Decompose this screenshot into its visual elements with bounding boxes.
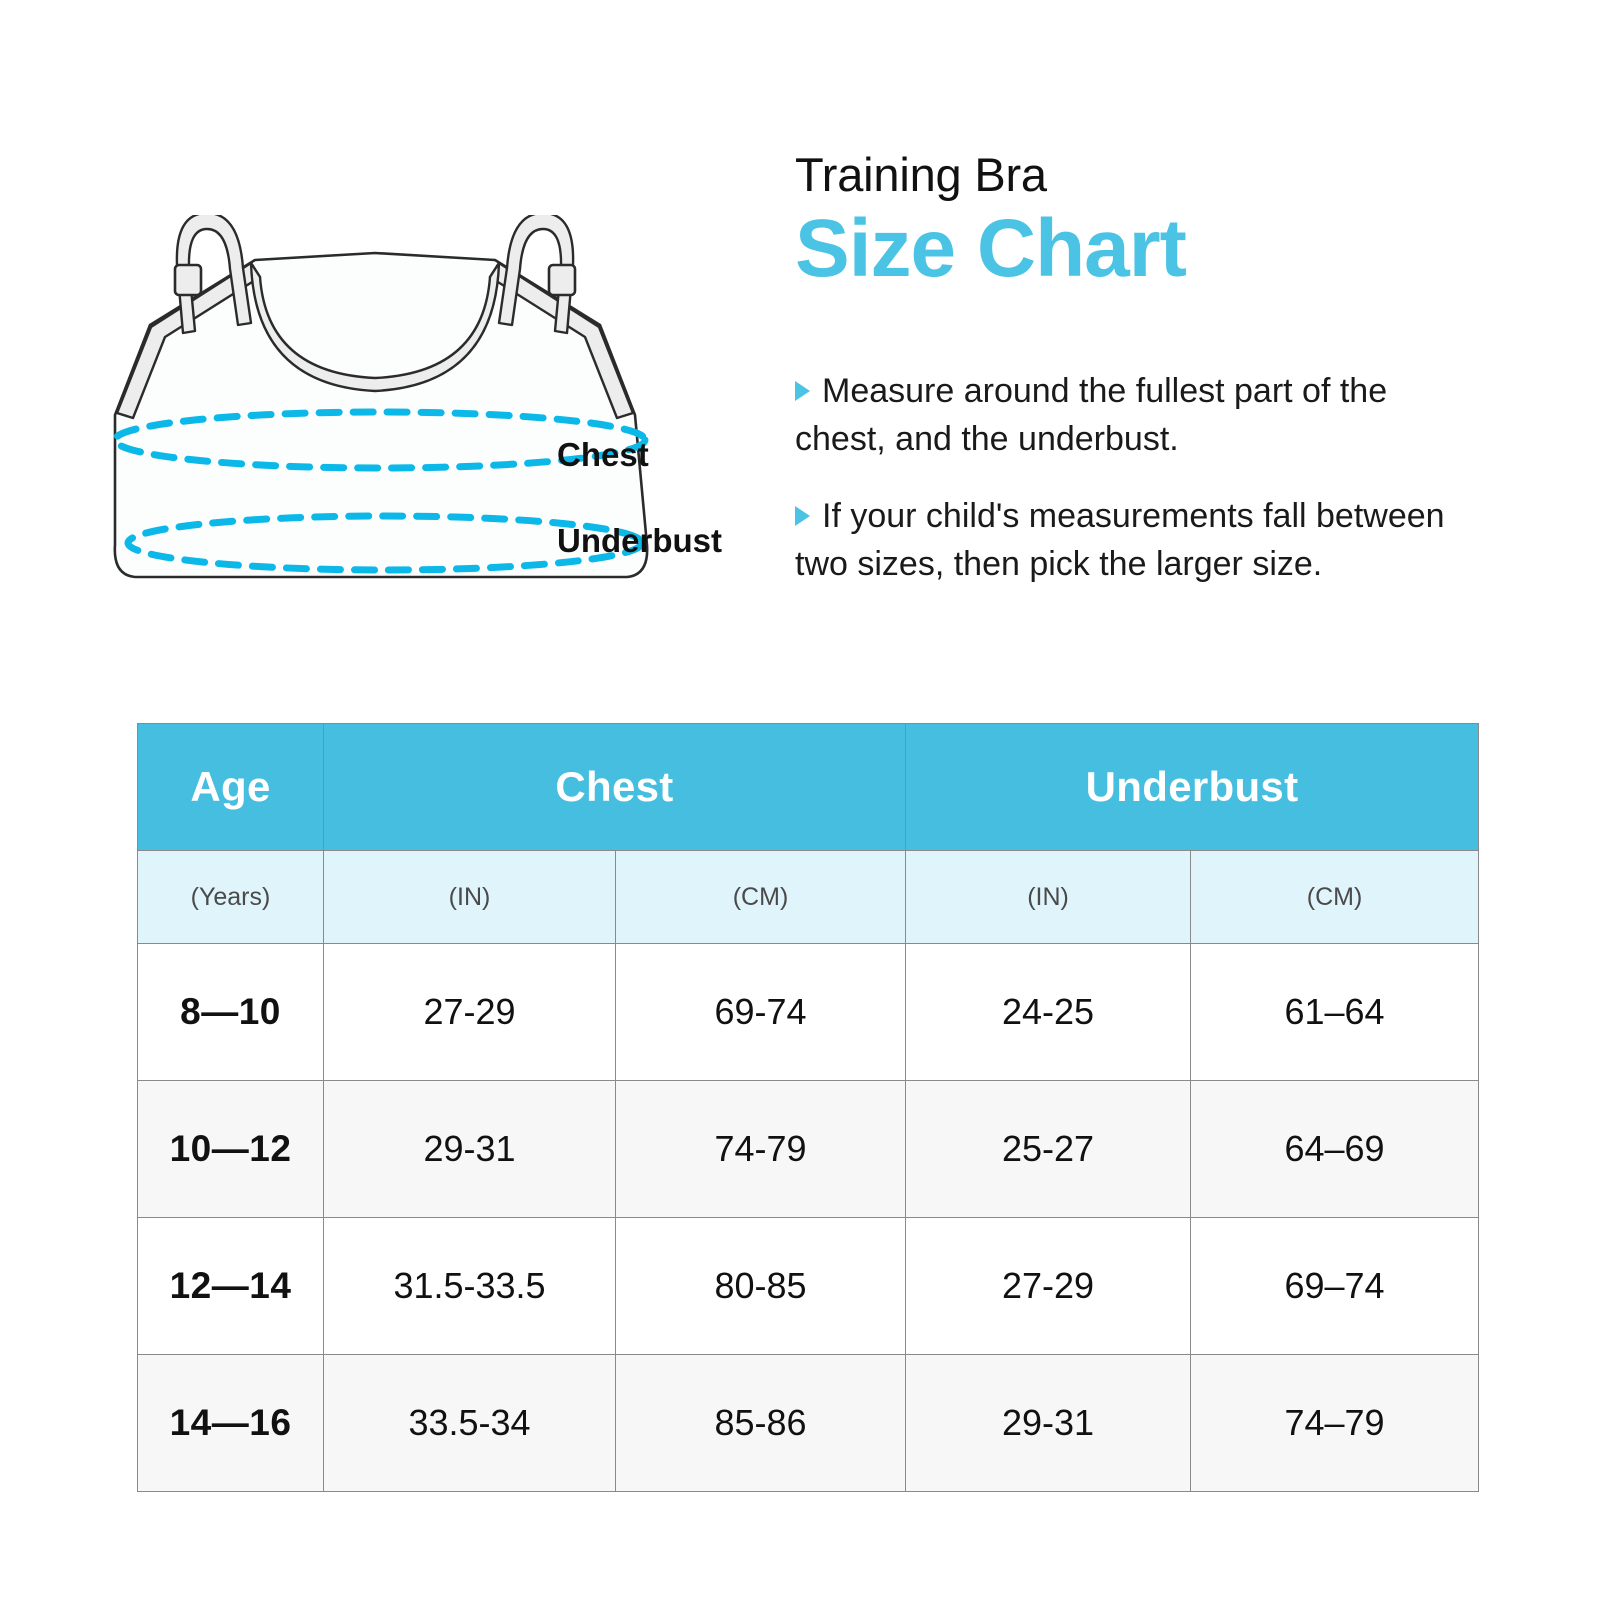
table-row: 10—12 29-31 74-79 25-27 64–69 <box>138 1081 1479 1218</box>
instructions-list: Measure around the fullest part of the c… <box>795 368 1485 588</box>
size-chart-table: Age Chest Underbust (Years) (IN) (CM) (I… <box>137 723 1479 1492</box>
training-bra-illustration <box>55 215 765 645</box>
cell-underbust-in: 27-29 <box>906 1218 1191 1355</box>
cell-chest-in: 31.5-33.5 <box>324 1218 616 1355</box>
underbust-label: Underbust <box>557 522 722 560</box>
cell-underbust-cm: 64–69 <box>1191 1081 1479 1218</box>
header-section: Chest Underbust Training Bra Size Chart … <box>0 0 1600 700</box>
cell-age: 8—10 <box>138 944 324 1081</box>
cell-underbust-cm: 61–64 <box>1191 944 1479 1081</box>
unit-header-chest-in: (IN) <box>324 851 616 944</box>
left-strap-adjuster <box>175 265 201 295</box>
cell-age: 10—12 <box>138 1081 324 1218</box>
cell-underbust-cm: 74–79 <box>1191 1355 1479 1492</box>
table-unit-header-row: (Years) (IN) (CM) (IN) (CM) <box>138 851 1479 944</box>
instruction-text: If your child's measurements fall betwee… <box>795 497 1445 583</box>
cell-underbust-cm: 69–74 <box>1191 1218 1479 1355</box>
unit-header-chest-cm: (CM) <box>616 851 906 944</box>
cell-chest-in: 29-31 <box>324 1081 616 1218</box>
column-header-age: Age <box>138 724 324 851</box>
cell-age: 14—16 <box>138 1355 324 1492</box>
column-header-underbust: Underbust <box>906 724 1479 851</box>
chest-label: Chest <box>557 436 649 474</box>
table-row: 8—10 27-29 69-74 24-25 61–64 <box>138 944 1479 1081</box>
unit-header-age: (Years) <box>138 851 324 944</box>
cell-underbust-in: 25-27 <box>906 1081 1191 1218</box>
unit-header-underbust-cm: (CM) <box>1191 851 1479 944</box>
instruction-item: If your child's measurements fall betwee… <box>795 493 1485 588</box>
page-title: Size Chart <box>795 203 1485 295</box>
cell-age: 12—14 <box>138 1218 324 1355</box>
cell-underbust-in: 29-31 <box>906 1355 1191 1492</box>
cell-chest-cm: 69-74 <box>616 944 906 1081</box>
table-group-header-row: Age Chest Underbust <box>138 724 1479 851</box>
column-header-chest: Chest <box>324 724 906 851</box>
cell-chest-in: 33.5-34 <box>324 1355 616 1492</box>
instruction-text: Measure around the fullest part of the c… <box>795 372 1387 458</box>
cell-chest-cm: 74-79 <box>616 1081 906 1218</box>
right-strap-adjuster <box>549 265 575 295</box>
title-block: Training Bra Size Chart <box>795 150 1485 295</box>
triangle-right-icon <box>795 506 810 526</box>
table-row: 12—14 31.5-33.5 80-85 27-29 69–74 <box>138 1218 1479 1355</box>
instruction-item: Measure around the fullest part of the c… <box>795 368 1485 463</box>
cell-chest-in: 27-29 <box>324 944 616 1081</box>
triangle-right-icon <box>795 381 810 401</box>
cell-underbust-in: 24-25 <box>906 944 1191 1081</box>
cell-chest-cm: 85-86 <box>616 1355 906 1492</box>
cell-chest-cm: 80-85 <box>616 1218 906 1355</box>
product-name: Training Bra <box>795 150 1485 199</box>
table-row: 14—16 33.5-34 85-86 29-31 74–79 <box>138 1355 1479 1492</box>
unit-header-underbust-in: (IN) <box>906 851 1191 944</box>
